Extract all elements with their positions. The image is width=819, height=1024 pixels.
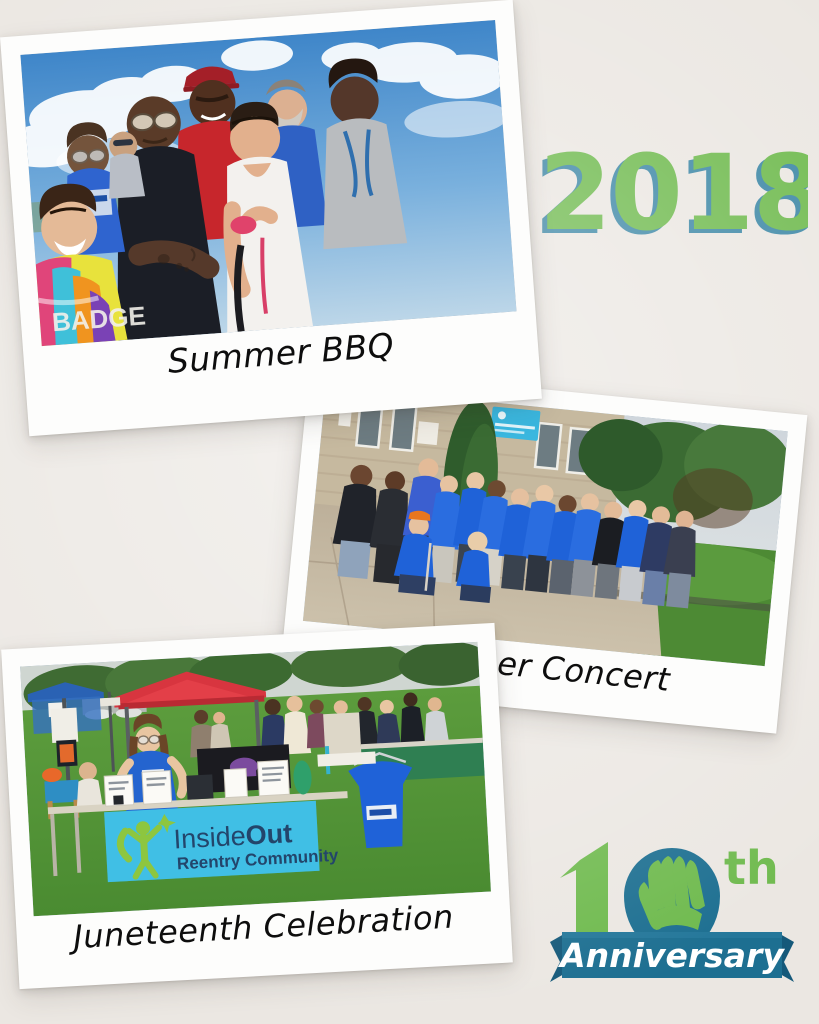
collage-canvas: Summer Concert	[0, 0, 819, 1024]
year-main-text: 2018	[539, 143, 808, 254]
polaroid-juneteenth-celebration[interactable]: InsideOut Reentry Community Juneteenth C…	[1, 623, 513, 989]
ribbon-text: Anniversary	[557, 936, 785, 975]
polaroid-summer-bbq[interactable]: BADGE Summer BBQ	[0, 0, 542, 436]
anniversary-logo: th Anniversary	[546, 826, 798, 996]
photo-juneteenth-celebration: InsideOut Reentry Community	[20, 642, 491, 916]
photo-summer-concert	[303, 386, 788, 666]
year-badge-2018: 2018 2018	[528, 143, 808, 265]
logo-ribbon: Anniversary	[550, 932, 794, 982]
logo-ordinal-th: th	[724, 841, 779, 895]
photo-summer-bbq: BADGE	[20, 20, 516, 346]
svg-text:th: th	[724, 841, 779, 895]
